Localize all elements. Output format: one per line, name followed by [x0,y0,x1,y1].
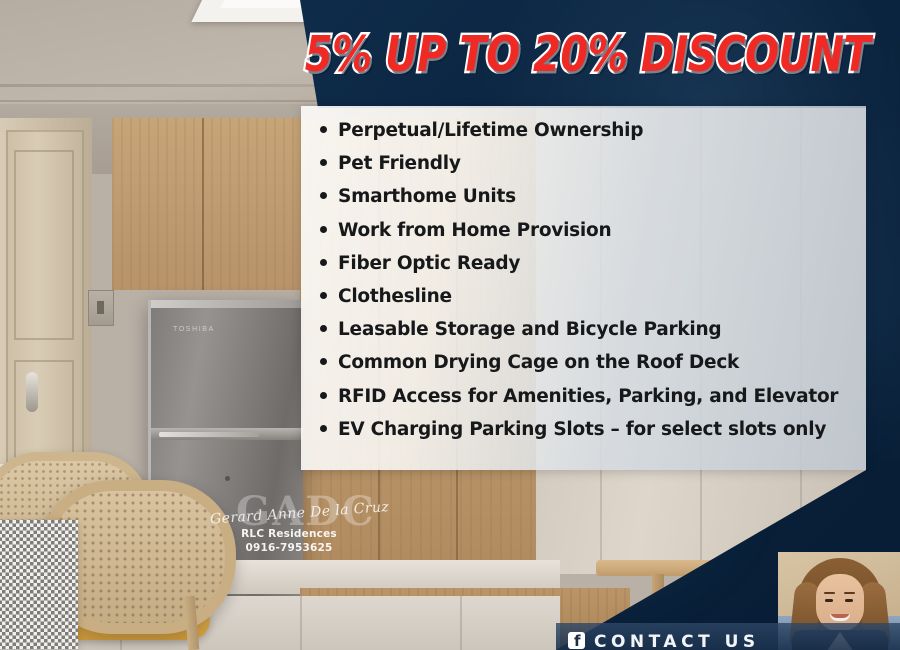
list-item-label: Clothesline [338,288,452,307]
bullet-dot-icon [320,126,327,133]
floor-tile-seam [460,596,462,650]
discount-headline-text: 5% UP TO 20% DISCOUNT [305,27,870,83]
list-item: Fiber Optic Ready [320,255,865,288]
facebook-icon-glyph: f [574,634,581,649]
list-item-label: Leasable Storage and Bicycle Parking [338,321,721,340]
refrigerator-lock [225,476,230,481]
bullet-dot-icon [320,192,327,199]
list-item: EV Charging Parking Slots – for select s… [320,421,865,454]
contact-us-label: CONTACT US [594,632,760,650]
facebook-icon[interactable]: f [568,632,585,649]
list-item-label: RFID Access for Amenities, Parking, and … [338,388,838,407]
list-item: Clothesline [320,288,865,321]
floor-tile-seam [300,596,302,650]
promo-flyer: TOSHIBA 5% UP TO 20% DISCOUNT Perpetua [0,0,900,650]
list-item-label: Pet Friendly [338,155,461,174]
bullet-dot-icon [320,392,327,399]
bullet-dot-icon [320,358,327,365]
list-item: Common Drying Cage on the Roof Deck [320,354,865,387]
list-item: Pet Friendly [320,155,865,188]
refrigerator-top-edge [151,300,303,308]
list-item-label: Work from Home Provision [338,222,611,241]
list-item-label: Perpetual/Lifetime Ownership [338,122,643,141]
list-item-label: EV Charging Parking Slots – for select s… [338,421,826,440]
light-switch-plate [88,290,114,326]
list-item: Work from Home Provision [320,222,865,255]
refrigerator-handle [159,432,259,437]
discount-headline: 5% UP TO 20% DISCOUNT [300,20,875,90]
contact-bar[interactable]: f CONTACT US [556,623,900,650]
bullet-dot-icon [320,425,327,432]
list-item: Smarthome Units [320,188,865,221]
bullet-dot-icon [320,259,327,266]
door-handle [26,372,38,412]
door-panel-upper [14,150,74,340]
list-item: RFID Access for Amenities, Parking, and … [320,388,865,421]
refrigerator-brand-label: TOSHIBA [173,326,215,333]
agent-eye-left [825,599,833,602]
agent-brow-right [844,592,855,594]
list-item-label: Smarthome Units [338,188,516,207]
agent-brow-left [824,592,835,594]
list-item-label: Common Drying Cage on the Roof Deck [338,354,739,373]
bullet-dot-icon [320,325,327,332]
bullet-dot-icon [320,226,327,233]
bullet-dot-icon [320,292,327,299]
bullet-dot-icon [320,159,327,166]
agent-eye-right [845,599,853,602]
features-list: Perpetual/Lifetime Ownership Pet Friendl… [320,112,865,464]
list-item: Leasable Storage and Bicycle Parking [320,321,865,354]
checkered-cushion [0,520,78,650]
list-item-label: Fiber Optic Ready [338,255,520,274]
list-item: Perpetual/Lifetime Ownership [320,122,865,155]
